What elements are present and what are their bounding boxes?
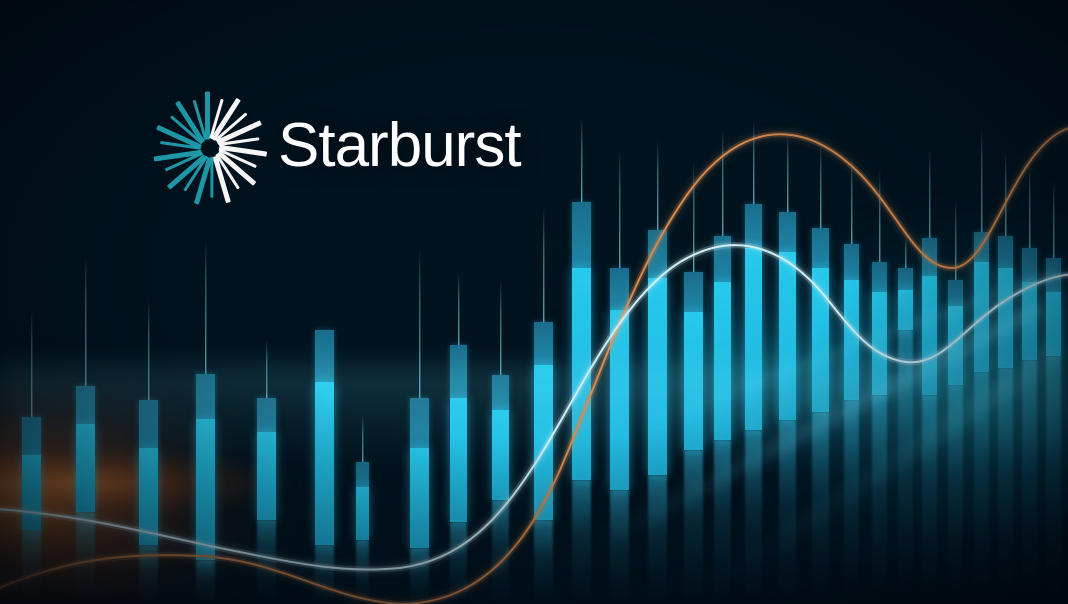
brand-logo: Starburst <box>160 96 521 196</box>
starburst-icon <box>160 96 260 196</box>
hero-banner: Starburst <box>0 0 1068 604</box>
starburst-ray <box>154 150 202 162</box>
trend-curves <box>0 0 1068 604</box>
brand-wordmark: Starburst <box>278 115 521 177</box>
starburst-ray <box>205 92 210 140</box>
candlestick-chart <box>0 0 1068 604</box>
